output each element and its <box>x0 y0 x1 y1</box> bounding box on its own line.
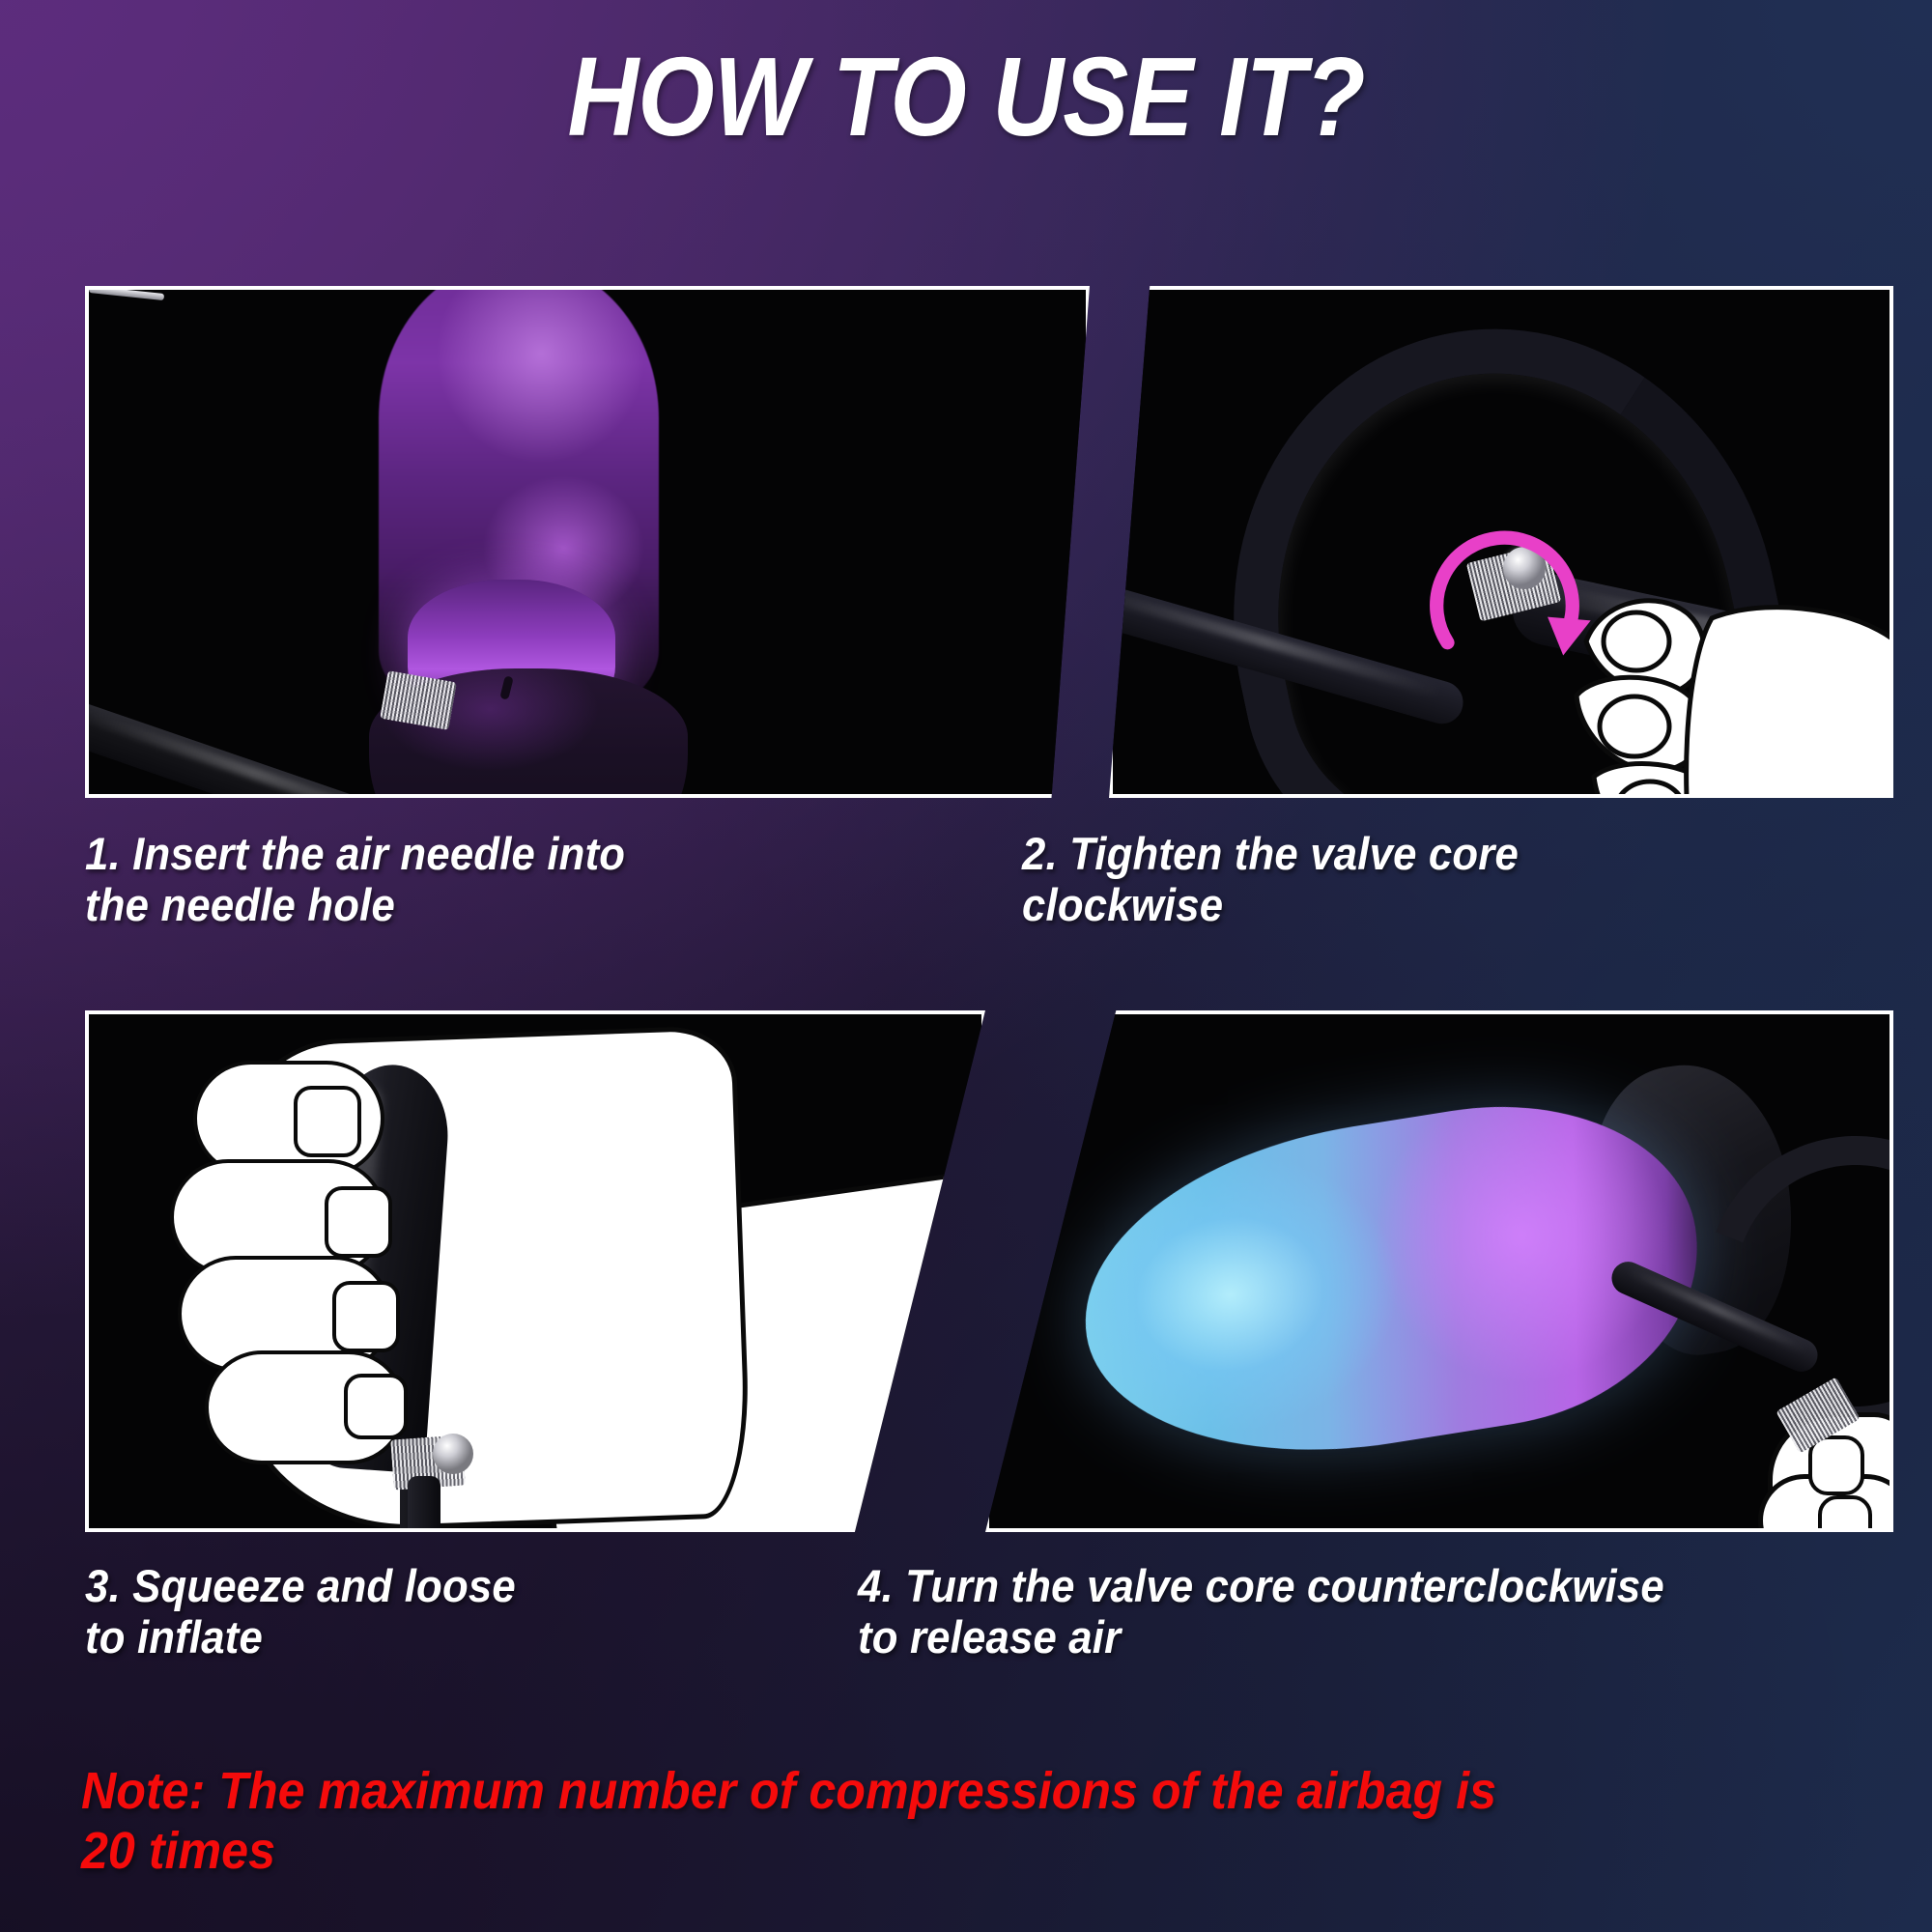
instruction-graphic: HOW TO USE IT? <box>0 0 1932 1932</box>
valve-cap-icon <box>433 1434 473 1474</box>
step-2-caption: 2. Tighten the valve core clockwise <box>1022 829 1831 930</box>
air-needle-icon <box>89 286 164 300</box>
step-panel-3 <box>85 1010 985 1532</box>
fingernail-icon <box>344 1374 408 1439</box>
warning-note: Note: The maximum number of compressions… <box>81 1762 1770 1881</box>
page-title: HOW TO USE IT? <box>116 41 1816 153</box>
step-3-caption: 3. Squeeze and loose to inflate <box>85 1561 768 1662</box>
fingernail-icon <box>1818 1495 1872 1532</box>
step-panel-2 <box>1109 286 1893 798</box>
hand-line-art-icon <box>1567 580 1893 798</box>
step-3-illustration <box>89 1014 981 1528</box>
step-panel-1 <box>85 286 1090 798</box>
fingernail-icon <box>325 1186 392 1258</box>
step-4-illustration <box>989 1014 1889 1528</box>
step-1-caption: 1. Insert the air needle into the needle… <box>85 829 875 930</box>
pump-hose-icon <box>408 1476 440 1532</box>
clockwise-arrow-icon <box>1420 518 1604 701</box>
step-2-illustration <box>1113 290 1889 794</box>
step-panel-4 <box>985 1010 1893 1532</box>
fingernail-icon <box>332 1281 400 1352</box>
fingernail-icon <box>1808 1435 1864 1495</box>
step-1-illustration <box>89 290 1086 794</box>
fingernail-icon <box>294 1086 361 1157</box>
step-4-caption: 4. Turn the valve core counterclockwise … <box>858 1561 1828 1662</box>
